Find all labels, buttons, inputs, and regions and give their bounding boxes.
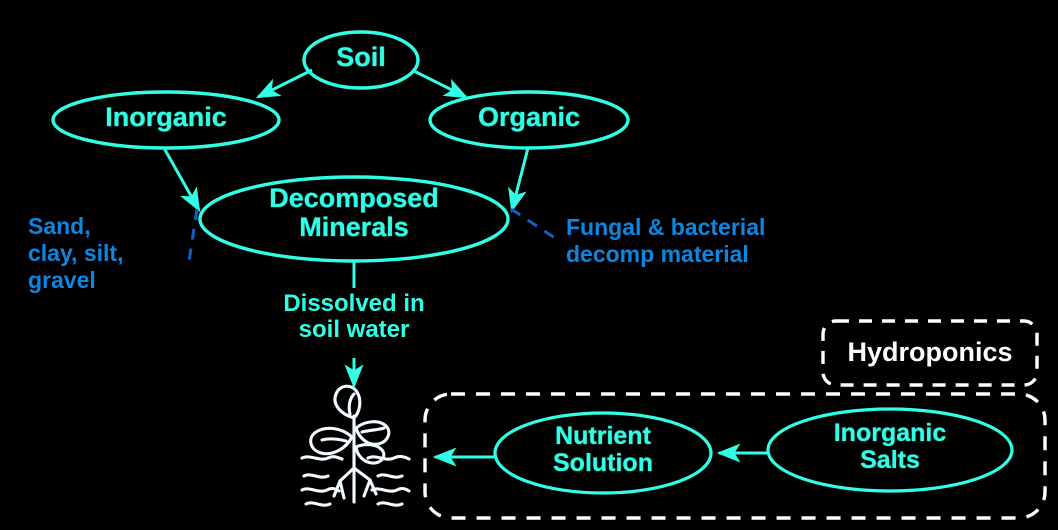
seedling-in-water-icon: [302, 386, 409, 505]
edge-soil-to-organic: [412, 70, 466, 97]
node-nutrient-solution-shape[interactable]: [495, 413, 711, 493]
leader-right-note: [511, 209, 558, 240]
node-soil-shape[interactable]: [304, 32, 418, 88]
diagram-canvas: Soil Inorganic Organic Decomposed Minera…: [0, 0, 1058, 530]
annotation-dissolved-note: Dissolved in soil water: [244, 291, 464, 344]
edge-organic-to-minerals: [512, 148, 528, 210]
node-organic-shape[interactable]: [430, 92, 628, 148]
edge-soil-to-inorganic: [258, 70, 312, 97]
edge-inorganic-to-minerals: [164, 148, 199, 210]
hydroponics-label: Hydroponics: [823, 338, 1037, 368]
node-decomposed-minerals-shape[interactable]: [200, 177, 508, 261]
node-inorganic-shape[interactable]: [53, 92, 279, 148]
annotation-left-note: Sand, clay, silt, gravel: [28, 213, 198, 294]
hydroponics-container-box: [425, 394, 1045, 518]
node-inorganic-salts-shape[interactable]: [768, 409, 1012, 491]
annotation-right-note: Fungal & bacterial decomp material: [566, 214, 856, 268]
